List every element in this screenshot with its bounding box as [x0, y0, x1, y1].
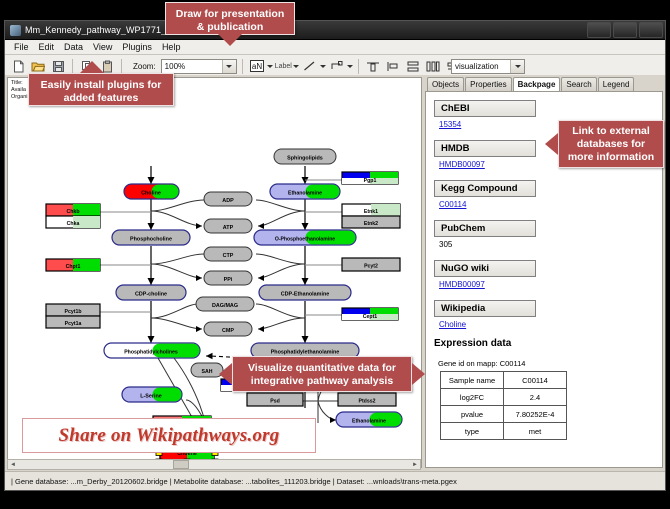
share-callout-text: Share on Wikipathways.org [59, 425, 280, 447]
window-buttons [587, 22, 663, 38]
chevron-down-icon[interactable] [320, 65, 326, 68]
toolbar-separator [121, 59, 122, 74]
menu-view[interactable]: View [88, 42, 117, 52]
expression-table: Sample name C00114 log2FC 2.4 pvalue 7.8… [440, 371, 567, 440]
row-value: 7.80252E-4 [504, 406, 567, 423]
svg-text:ATP: ATP [223, 225, 234, 231]
kegg-link[interactable]: C00114 [439, 200, 654, 209]
status-bar: | Gene database: ...m_Derby_20120602.bri… [5, 471, 665, 490]
chevron-down-icon[interactable] [510, 60, 524, 73]
svg-text:O-Phosphoethanolamine: O-Phosphoethanolamine [275, 237, 335, 243]
gene-id-line: Gene id on mapp: C00114 [438, 359, 654, 368]
table-row: Sample name C00114 [441, 372, 567, 389]
zoom-value: 100% [162, 62, 222, 71]
draw-callout: Draw for presentation & publication [165, 2, 295, 35]
svg-text:CDP-Ethanolamine: CDP-Ethanolamine [281, 292, 330, 298]
pathway-graph: Sphingolipids ADP ATP CTP PPi DAG/MAG CM… [8, 78, 422, 468]
row-key: Sample name [441, 372, 504, 389]
pubchem-value: 305 [439, 240, 654, 249]
links-callout-line1: Link to external [567, 125, 655, 138]
row-value: met [504, 423, 567, 440]
row-value: C00114 [504, 372, 567, 389]
align-top-icon[interactable] [364, 57, 382, 75]
svg-text:CTP: CTP [223, 253, 234, 259]
svg-text:Pgp1: Pgp1 [364, 178, 377, 184]
links-callout-line3: more information [567, 151, 655, 164]
new-file-icon[interactable] [9, 57, 27, 75]
shape-tool[interactable] [328, 57, 353, 75]
status-text: | Gene database: ...m_Derby_20120602.bri… [5, 477, 457, 486]
wikipedia-header: Wikipedia [434, 300, 536, 317]
canvas-horizontal-scrollbar[interactable]: ◄ ► [7, 459, 421, 470]
svg-text:Ethanolamine: Ethanolamine [352, 419, 386, 425]
visualize-callout-line1: Visualize quantitative data for [241, 362, 403, 375]
svg-text:aN: aN [252, 62, 262, 71]
svg-text:Etnk1: Etnk1 [364, 209, 378, 215]
line-icon[interactable] [301, 57, 319, 75]
share-callout: Share on Wikipathways.org [22, 418, 316, 453]
svg-text:SAH: SAH [202, 369, 213, 375]
pathway-canvas[interactable]: Title: Availa Organi [7, 77, 422, 468]
links-callout-arrow-icon [545, 133, 558, 155]
toolbar-separator [242, 59, 243, 74]
minimize-button[interactable] [587, 22, 611, 38]
datanode-icon[interactable]: aN [248, 57, 266, 75]
tab-objects[interactable]: Objects [427, 77, 464, 91]
same-width-icon[interactable] [424, 57, 442, 75]
zoom-combo[interactable]: 100% [161, 59, 237, 74]
label-tool-text: Label [275, 63, 292, 70]
nugo-header: NuGO wiki [434, 260, 536, 277]
visualize-callout-line2: integrative pathway analysis [241, 375, 403, 388]
svg-text:CDP-choline: CDP-choline [135, 292, 167, 298]
svg-text:DAG/MAG: DAG/MAG [212, 303, 238, 309]
row-key: type [441, 423, 504, 440]
chevron-down-icon[interactable] [347, 65, 353, 68]
plugins-callout-line2: added features [37, 92, 165, 105]
row-key: pvalue [441, 406, 504, 423]
plugins-callout-arrow-icon [80, 61, 104, 73]
svg-text:Psd: Psd [270, 399, 280, 405]
tab-backpage[interactable]: Backpage [513, 77, 561, 92]
tab-search[interactable]: Search [561, 77, 596, 91]
visualize-callout-tail-icon [412, 363, 425, 385]
svg-text:Pcyt2: Pcyt2 [364, 264, 378, 270]
row-value: 2.4 [504, 389, 567, 406]
svg-text:PPi: PPi [224, 277, 233, 283]
menu-data[interactable]: Data [59, 42, 88, 52]
links-callout-line2: databases for [567, 138, 655, 151]
plugins-callout: Easily install plugins for added feature… [28, 73, 174, 106]
svg-text:Phosphatidylcholines: Phosphatidylcholines [124, 350, 178, 356]
maximize-button[interactable] [613, 22, 637, 38]
menu-plugins[interactable]: Plugins [117, 42, 157, 52]
connector-icon[interactable] [328, 57, 346, 75]
chevron-down-icon[interactable] [293, 65, 299, 68]
scroll-left-arrow[interactable]: ◄ [8, 462, 18, 468]
links-callout: Link to external databases for more info… [558, 120, 664, 168]
svg-text:Ethanolamine: Ethanolamine [288, 191, 322, 197]
side-panel-tabs: Objects Properties Backpage Search Legen… [425, 77, 663, 91]
menu-edit[interactable]: Edit [34, 42, 60, 52]
visualize-callout: Visualize quantitative data for integrat… [232, 356, 412, 392]
menu-file[interactable]: File [9, 42, 34, 52]
svg-text:Chka: Chka [67, 221, 80, 227]
scroll-right-arrow[interactable]: ► [410, 462, 420, 468]
draw-callout-arrow-icon [218, 34, 242, 46]
menu-bar: File Edit Data View Plugins Help [5, 40, 665, 55]
tab-properties[interactable]: Properties [465, 77, 511, 91]
title-bar: Mm_Kennedy_pathway_WP1771_45176.gpml [5, 21, 665, 40]
align-left-icon[interactable] [384, 57, 402, 75]
screenshot-root: Mm_Kennedy_pathway_WP1771_45176.gpml Fil… [0, 0, 670, 509]
draw-callout-line1: Draw for presentation [174, 8, 286, 21]
label-tool[interactable]: Label [275, 63, 299, 70]
tab-legend[interactable]: Legend [598, 77, 635, 91]
zoom-label: Zoom: [133, 62, 156, 71]
table-row: type met [441, 423, 567, 440]
menu-help[interactable]: Help [157, 42, 186, 52]
row-key: log2FC [441, 389, 504, 406]
svg-text:Cept1: Cept1 [363, 314, 378, 320]
wikipedia-link[interactable]: Choline [439, 320, 654, 329]
svg-text:Chpt1: Chpt1 [66, 264, 81, 270]
svg-text:Pcyt1b: Pcyt1b [64, 309, 81, 315]
visualize-callout-arrow-icon [219, 363, 232, 385]
svg-text:Ptdss2: Ptdss2 [358, 399, 375, 405]
svg-text:L-Serine: L-Serine [140, 394, 162, 400]
chevron-down-icon[interactable] [222, 60, 236, 73]
svg-text:Etnk2: Etnk2 [364, 221, 378, 227]
svg-text:Chkb: Chkb [67, 209, 80, 215]
hmdb-header: HMDB [434, 140, 536, 157]
svg-text:Choline: Choline [141, 191, 161, 197]
kegg-header: Kegg Compound [434, 180, 536, 197]
svg-text:ADP: ADP [222, 198, 234, 204]
svg-text:Phosphocholine: Phosphocholine [130, 237, 172, 243]
expression-data-heading: Expression data [434, 338, 654, 349]
chebi-header: ChEBI [434, 100, 536, 117]
table-row: pvalue 7.80252E-4 [441, 406, 567, 423]
visualization-value: visualization [452, 62, 510, 71]
svg-text:Sphingolipids: Sphingolipids [287, 156, 323, 162]
svg-text:CMP: CMP [222, 328, 234, 334]
pubchem-header: PubChem [434, 220, 536, 237]
draw-callout-line2: & publication [174, 21, 286, 34]
datanode-tool[interactable]: aN [248, 57, 273, 75]
distribute-icon[interactable] [404, 57, 422, 75]
toolbar-separator [72, 59, 73, 74]
close-button[interactable] [639, 22, 663, 38]
plugins-callout-line1: Easily install plugins for [37, 79, 165, 92]
scrollbar-thumb[interactable] [173, 460, 189, 469]
chevron-down-icon[interactable] [267, 65, 273, 68]
app-icon [10, 25, 21, 36]
nugo-link[interactable]: HMDB00097 [439, 280, 654, 289]
visualization-combo[interactable]: visualization [451, 59, 525, 74]
line-tool[interactable] [301, 57, 326, 75]
toolbar-separator [358, 59, 359, 74]
svg-text:Pcyt1a: Pcyt1a [65, 321, 82, 327]
svg-text:Phosphatidylethanolamine: Phosphatidylethanolamine [271, 350, 340, 356]
table-row: log2FC 2.4 [441, 389, 567, 406]
